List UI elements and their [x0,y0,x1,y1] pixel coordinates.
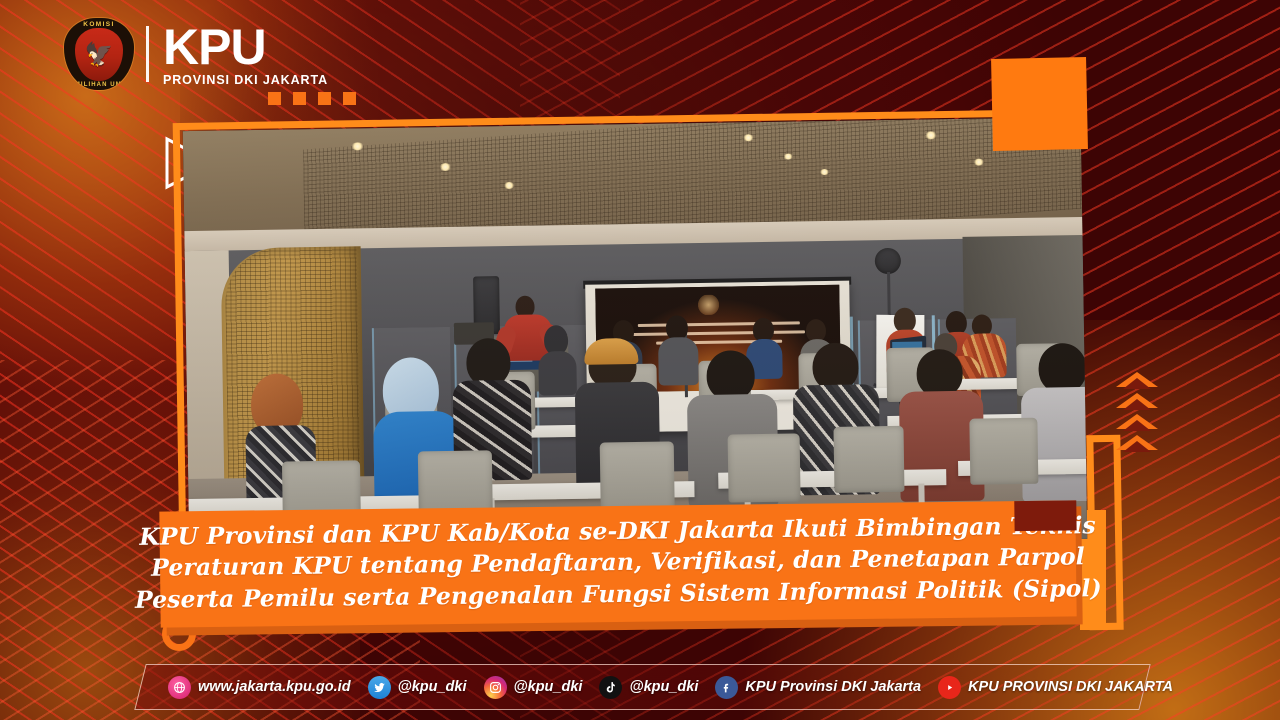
event-photo [183,117,1088,553]
caption-notch [1014,500,1076,531]
slide-logo-icon [697,295,719,315]
instagram-camera-icon [484,676,507,699]
youtube-play-icon [938,676,961,699]
kpu-logo: KOMISI 🦅 PEMILIHAN UMUM KPU PROVINSI DKI… [64,18,328,90]
poster-canvas: KOMISI 🦅 PEMILIHAN UMUM KPU PROVINSI DKI… [0,0,1280,720]
caption-banner: KPU Provinsi dan KPU Kab/Kota se-DKI Jak… [159,500,1076,627]
logo-abbreviation: KPU [163,22,328,72]
social-item-website[interactable]: www.jakarta.kpu.go.id [168,676,351,699]
social-label-facebook: KPU Provinsi DKI Jakarta [745,679,921,695]
social-label-tiktok: @kpu_dki [629,679,698,695]
social-item-instagram[interactable]: @kpu_dki [484,676,583,699]
facebook-f-icon [715,676,738,699]
social-label-instagram: @kpu_dki [514,679,583,695]
chevrons-up-icon [1116,372,1158,456]
social-bar: www.jakarta.kpu.go.id @kpu_dki @kpu_dki [152,664,1152,710]
tiktok-note-icon [599,676,622,699]
logo-subtitle: PROVINSI DKI JAKARTA [163,74,328,87]
globe-website-icon [168,676,191,699]
garuda-emblem-icon: 🦅 [85,43,114,66]
seal-text-bottom: PEMILIHAN UMUM [64,82,134,88]
social-label-youtube: KPU PROVINSI DKI JAKARTA [968,679,1173,695]
seal-text-top: KOMISI [64,21,134,28]
orange-square-decor [991,57,1088,151]
social-item-tiktok[interactable]: @kpu_dki [599,676,698,699]
social-item-youtube[interactable]: KPU PROVINSI DKI JAKARTA [938,676,1173,699]
twitter-bird-icon [368,676,391,699]
social-item-facebook[interactable]: KPU Provinsi DKI Jakarta [715,676,921,699]
social-label-twitter: @kpu_dki [398,679,467,695]
play-triangle-icon [130,137,163,185]
logo-divider [146,26,149,82]
kpu-seal-icon: KOMISI 🦅 PEMILIHAN UMUM [64,18,134,90]
social-label-website: www.jakarta.kpu.go.id [198,679,351,695]
social-item-twitter[interactable]: @kpu_dki [368,676,467,699]
dashed-squares-decor [268,92,356,105]
